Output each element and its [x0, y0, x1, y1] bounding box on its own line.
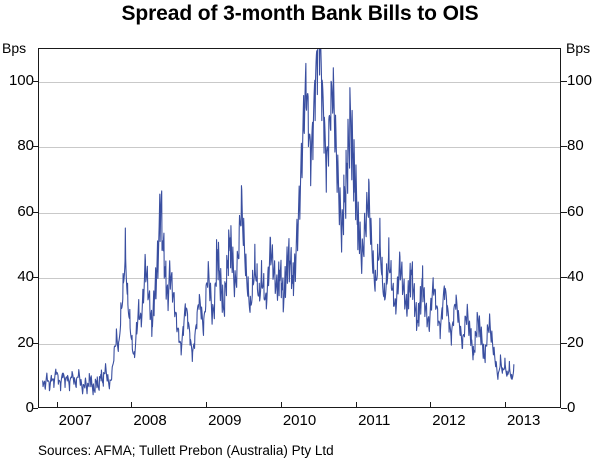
y-tick-label-right-0: 0 [567, 400, 575, 415]
source-note: Sources: AFMA; Tullett Prebon (Australia… [38, 443, 334, 458]
y-tick-label-right-100: 100 [567, 73, 592, 88]
y-tick-mark-right-100 [561, 81, 567, 82]
x-tick-label-2009: 2009 [208, 412, 241, 429]
x-tick-label-2012: 2012 [432, 412, 465, 429]
x-tick-label-2010: 2010 [283, 412, 316, 429]
page-title: Spread of 3-month Bank Bills to OIS [0, 2, 600, 26]
y-axis-unit-right: Bps [566, 40, 590, 56]
y-tick-mark-right-40 [561, 277, 567, 278]
x-tick-label-2008: 2008 [133, 412, 166, 429]
x-tick-label-2011: 2011 [358, 412, 390, 429]
x-tick-mark-5 [430, 402, 431, 408]
chart-figure: Spread of 3-month Bank Bills to OIS Bps … [0, 0, 600, 470]
y-tick-mark-left-0 [32, 408, 38, 409]
x-tick-mark-3 [281, 402, 282, 408]
plot-area [38, 48, 561, 408]
y-tick-mark-right-80 [561, 146, 567, 147]
x-tick-mark-1 [131, 402, 132, 408]
x-tick-mark-0 [57, 402, 58, 408]
y-tick-label-right-60: 60 [567, 204, 584, 219]
y-tick-label-right-20: 20 [567, 335, 584, 350]
x-tick-mark-2 [206, 402, 207, 408]
x-tick-label-2007: 2007 [59, 412, 92, 429]
y-tick-label-left-100: 100 [9, 73, 34, 88]
y-axis-unit-left: Bps [2, 40, 26, 56]
series-path-spread [43, 49, 514, 395]
y-tick-mark-right-20 [561, 343, 567, 344]
x-tick-mark-6 [505, 402, 506, 408]
y-tick-label-right-40: 40 [567, 269, 584, 284]
y-tick-label-right-80: 80 [567, 138, 584, 153]
x-tick-label-2013: 2013 [507, 412, 540, 429]
y-tick-mark-right-0 [561, 408, 567, 409]
y-tick-mark-right-60 [561, 212, 567, 213]
data-series-line [39, 49, 560, 407]
x-tick-mark-4 [356, 402, 357, 408]
